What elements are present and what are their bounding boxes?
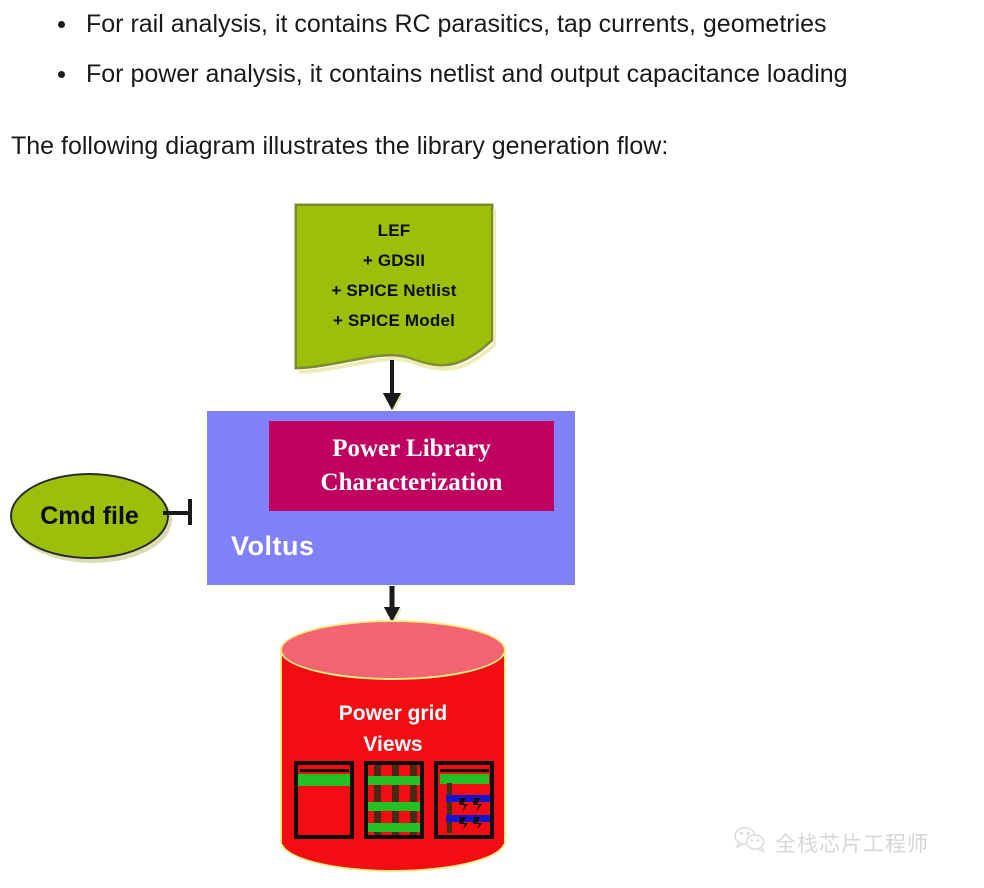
cmd-file-connector-line xyxy=(163,511,191,515)
rail-green-strap xyxy=(298,774,350,786)
power-via-stack-view-icon xyxy=(434,761,494,839)
via-outline-line xyxy=(440,769,489,772)
power-grid-view-icons xyxy=(294,761,494,839)
cmd-file-connector-terminator xyxy=(188,499,192,525)
power-library-characterization-box[interactable]: Power Library Characterization xyxy=(269,421,554,511)
cylinder-label-line-1: Power grid xyxy=(280,698,506,729)
diagram-page: For rail analysis, it contains RC parasi… xyxy=(0,0,984,888)
power-grid-mesh-view-icon xyxy=(364,761,424,839)
doc-line: + SPICE Netlist xyxy=(292,276,496,306)
cylinder-top xyxy=(280,620,506,680)
doc-line: + SPICE Model xyxy=(292,306,496,336)
doc-line: + GDSII xyxy=(292,246,496,276)
arrow-doc-to-voltus xyxy=(378,360,418,412)
input-files-label: LEF + GDSII + SPICE Netlist + SPICE Mode… xyxy=(292,216,496,336)
task-title-line-2: Characterization xyxy=(321,466,503,500)
library-generation-flow-diagram: LEF + GDSII + SPICE Netlist + SPICE Mode… xyxy=(0,0,984,888)
doc-line: LEF xyxy=(292,216,496,246)
power-grid-views-cylinder[interactable]: Power grid Views xyxy=(280,620,506,872)
task-title-line-1: Power Library xyxy=(332,432,491,466)
wechat-icon xyxy=(733,826,767,859)
power-grid-views-label: Power grid Views xyxy=(280,698,506,760)
mesh-horizontal-strap xyxy=(366,823,421,832)
voltus-tool-label: Voltus xyxy=(231,531,315,562)
power-rail-view-icon xyxy=(294,761,354,839)
cmd-file-label: Cmd file xyxy=(40,502,139,531)
mesh-horizontal-strap xyxy=(366,802,421,811)
cylinder-label-line-2: Views xyxy=(280,729,506,760)
via-zigzag-marks xyxy=(458,798,492,828)
mesh-horizontal-strap xyxy=(366,776,421,785)
rail-outline-line xyxy=(300,769,349,772)
cmd-file-node[interactable]: Cmd file xyxy=(10,473,169,559)
watermark: 全栈芯片工程师 xyxy=(733,826,929,859)
watermark-text: 全栈芯片工程师 xyxy=(775,828,929,858)
via-vertical-stripe xyxy=(447,783,452,833)
